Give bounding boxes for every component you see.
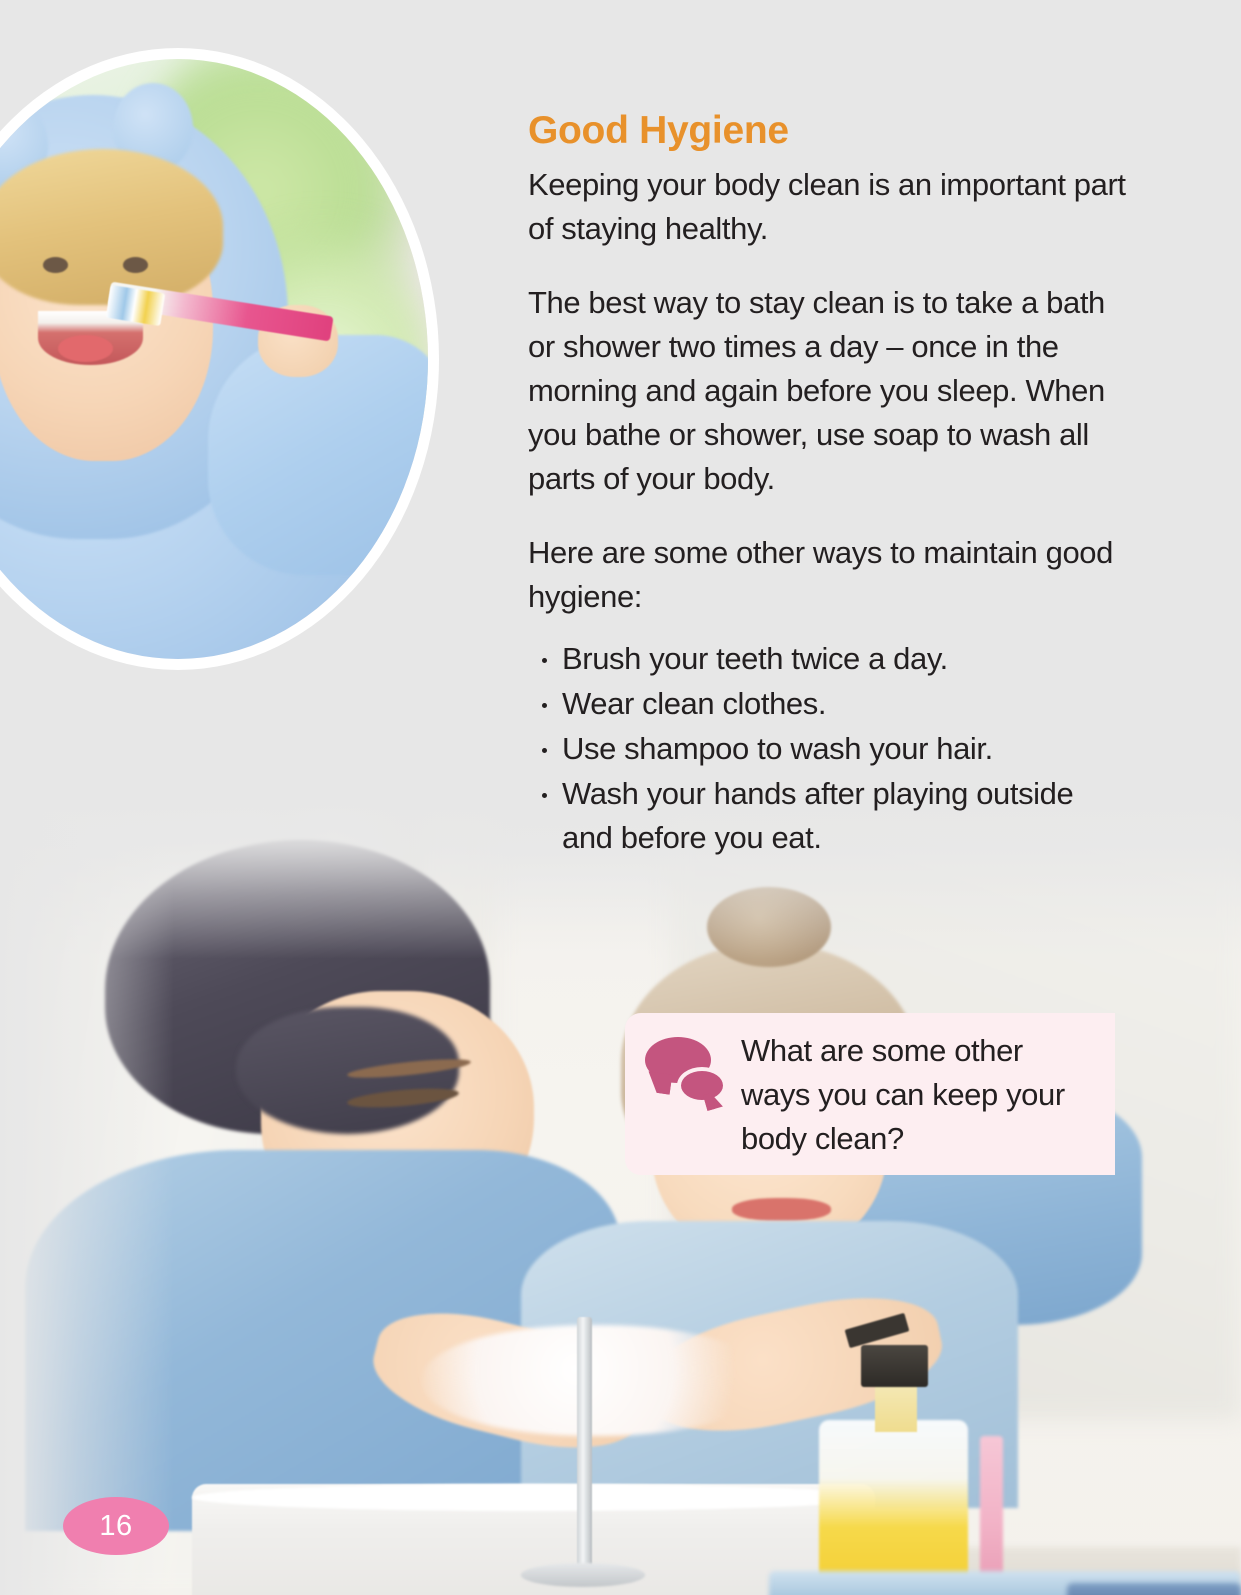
photo2-background-toothbrush [980,1436,1002,1579]
article-text-column: Good Hygiene Keeping your body clean is … [528,110,1128,861]
paragraph-2: The best way to stay clean is to take a … [528,281,1128,501]
hygiene-tips-list: Brush your teeth twice a day. Wear clean… [528,637,1128,860]
photo2-child-lips [732,1198,831,1222]
photo-child-eye-right [123,257,148,273]
photo2-soap-foam [422,1325,769,1436]
list-item: Wear clean clothes. [528,682,1128,726]
mother-and-child-washing-hands-photo [0,800,1241,1595]
photo2-soap-bottle [819,1420,968,1595]
photo2-left-fade [0,800,174,1595]
page-number-badge: 16 [63,1497,169,1555]
photo2-faucet [577,1317,592,1579]
photo2-sink-rim [192,1484,875,1511]
list-item: Use shampoo to wash your hair. [528,727,1128,771]
book-page: Good Hygiene Keeping your body clean is … [0,0,1241,1595]
photo-child-hair [0,149,223,305]
discussion-question-callout: What are some other ways you can keep yo… [625,1013,1115,1175]
page-title: Good Hygiene [528,110,1128,153]
photo-child-eye-left [43,257,68,273]
photo2-soap-pump [861,1345,928,1388]
speech-bubbles-icon [639,1033,731,1111]
discussion-question-text: What are some other ways you can keep yo… [741,1029,1115,1161]
paragraph-1: Keeping your body clean is an important … [528,163,1128,251]
list-item: Brush your teeth twice a day. [528,637,1128,681]
photo2-soap-bottle-neck [875,1380,917,1432]
list-item: Wash your hands after playing outside an… [528,772,1128,860]
child-brushing-teeth-photo [0,48,439,670]
photo-child-tongue [58,335,113,362]
speech-bubble-large-tail [646,1071,673,1094]
photo2-towel-dark [1067,1583,1241,1595]
paragraph-3: Here are some other ways to maintain goo… [528,531,1128,619]
photo2-faucet-base [521,1563,645,1587]
photo-inner [0,59,428,659]
